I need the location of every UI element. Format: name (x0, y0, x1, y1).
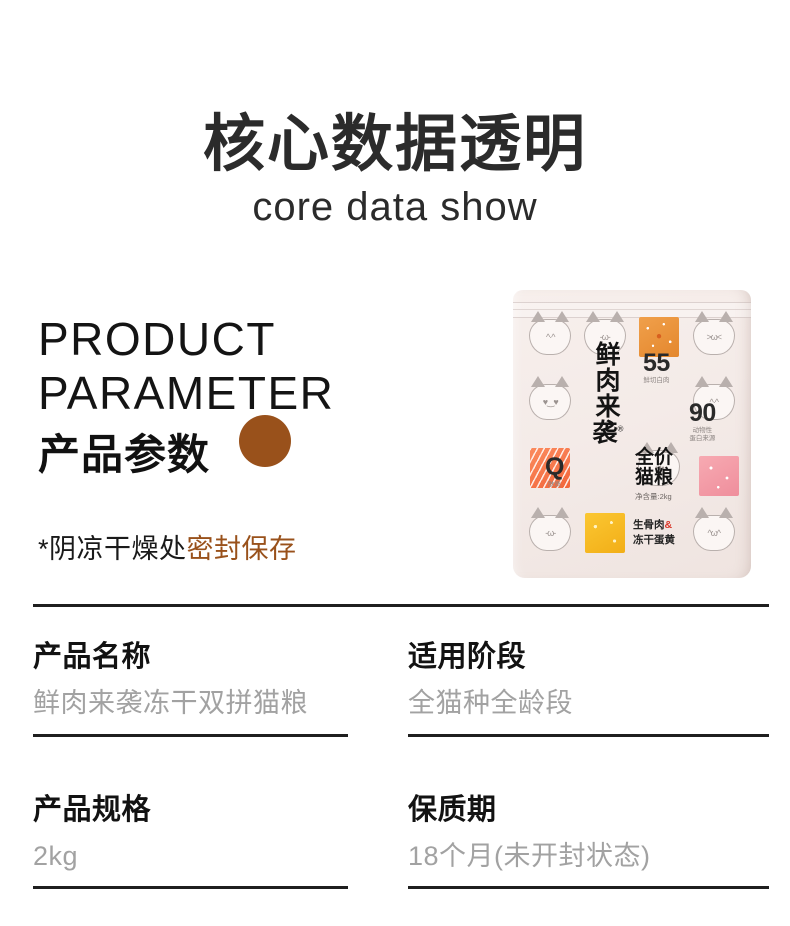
spec-value: 全猫种全龄段 (408, 687, 769, 726)
freeze-dried-chip-pink-icon (699, 456, 739, 496)
package-brand-text: 鲜肉来袭 (593, 341, 621, 447)
stat-55-value: 55 (643, 352, 670, 376)
cat-face-icon: ♥‿♥ (529, 384, 571, 420)
stat-90-caption-2: 蛋白来源 (689, 435, 716, 442)
spec-column-gap (348, 640, 408, 737)
pattern-cell: ^·^ (523, 304, 578, 370)
package-brand-name: 鲜肉来袭® (591, 342, 625, 446)
package-net-weight: 净含量:2kg (635, 491, 673, 502)
spec-label: 保质期 (408, 793, 769, 828)
parameter-cn-wrap: 产品参数 (38, 429, 458, 485)
package-stat-q: Q 肤质 (545, 456, 564, 488)
specification-table: 产品名称 鲜肉来袭冻干双拼猫粮 适用阶段 全猫种全龄段 产品规格 2kg 保质期… (33, 640, 769, 889)
package-feature-line-1: 生骨肉& (633, 518, 675, 533)
registered-mark: ® (618, 425, 624, 434)
spec-cell-product-size: 产品规格 2kg (33, 793, 348, 890)
cat-face-inner: ♥‿♥ (532, 387, 568, 417)
page-header: 核心数据透明 core data show (0, 0, 790, 230)
product-package-image: ^·^ -ω- >ω< ♥‿♥ ^·^ •ᴥ• -ω- ^ω^ 鲜肉来袭® (513, 290, 751, 578)
page-subtitle: core data show (0, 185, 790, 230)
spec-label: 适用阶段 (408, 640, 769, 675)
spec-value: 2kg (33, 840, 348, 879)
spec-column-gap (348, 793, 408, 890)
storage-note-accent: 密封保存 (187, 534, 297, 564)
feature-ampersand: & (665, 519, 673, 531)
parameter-en-line-2: PARAMETER (38, 366, 458, 420)
pattern-cell: ♥‿♥ (523, 370, 578, 436)
stat-55-caption: 鲜切白肉 (643, 377, 670, 384)
package-feature-line-2: 冻干蛋黄 (633, 533, 675, 548)
stat-q-caption: 肤质 (545, 481, 564, 488)
stat-90-value: 90 (689, 402, 716, 426)
spec-label: 产品名称 (33, 640, 348, 675)
parameter-en-line-1: PRODUCT (38, 312, 458, 366)
cat-face-icon: -ω- (529, 515, 571, 551)
cat-face-inner: -ω- (532, 518, 568, 548)
feature-text-a: 生骨肉 (633, 519, 665, 531)
kibble-chip-yellow-icon (585, 513, 625, 553)
package-feature-text: 生骨肉& 冻干蛋黄 (633, 518, 675, 548)
page-title: 核心数据透明 (0, 112, 790, 177)
spec-cell-shelf-life: 保质期 18个月(未开封状态) (408, 793, 769, 890)
cat-face-inner: ^·^ (532, 322, 568, 352)
pattern-cell: -ω- (523, 501, 578, 567)
storage-note-dark: *阴凉干燥处 (38, 534, 187, 564)
storage-note: *阴凉干燥处密封保存 (38, 527, 458, 566)
cat-face-icon: ^ω^ (693, 515, 735, 551)
cat-face-inner: ^ω^ (696, 518, 732, 548)
cat-face-icon: >ω< (693, 319, 735, 355)
pattern-cell: ^ω^ (687, 501, 742, 567)
package-type-line-2: 猫粮 (635, 468, 673, 488)
pattern-cell: >ω< (687, 304, 742, 370)
spec-value: 18个月(未开封状态) (408, 840, 769, 879)
package-stat-90: 90 动物性 蛋白来源 (689, 402, 716, 443)
stat-q-value: Q (545, 456, 564, 480)
spec-cell-product-name: 产品名称 鲜肉来袭冻干双拼猫粮 (33, 640, 348, 737)
spec-cell-life-stage: 适用阶段 全猫种全龄段 (408, 640, 769, 737)
spec-row-spacer (348, 737, 408, 793)
parameter-cn-title: 产品参数 (38, 429, 458, 482)
section-divider (33, 604, 769, 607)
stat-90-caption-1: 动物性 (689, 427, 716, 434)
spec-value: 鲜肉来袭冻干双拼猫粮 (33, 687, 348, 726)
spec-row-spacer (408, 737, 769, 793)
package-product-type: 全价 猫粮 净含量:2kg (635, 448, 673, 502)
cat-face-inner: >ω< (696, 322, 732, 352)
pattern-cell (578, 501, 633, 567)
cat-face-icon: ^·^ (529, 319, 571, 355)
package-body: ^·^ -ω- >ω< ♥‿♥ ^·^ •ᴥ• -ω- ^ω^ 鲜肉来袭® (513, 290, 751, 578)
spec-row-spacer (33, 737, 348, 793)
product-parameter-block: PRODUCT PARAMETER 产品参数 *阴凉干燥处密封保存 (38, 312, 458, 566)
spec-label: 产品规格 (33, 793, 348, 828)
package-stat-55: 55 鲜切白肉 (643, 352, 670, 384)
package-type-line-1: 全价 (635, 448, 673, 468)
